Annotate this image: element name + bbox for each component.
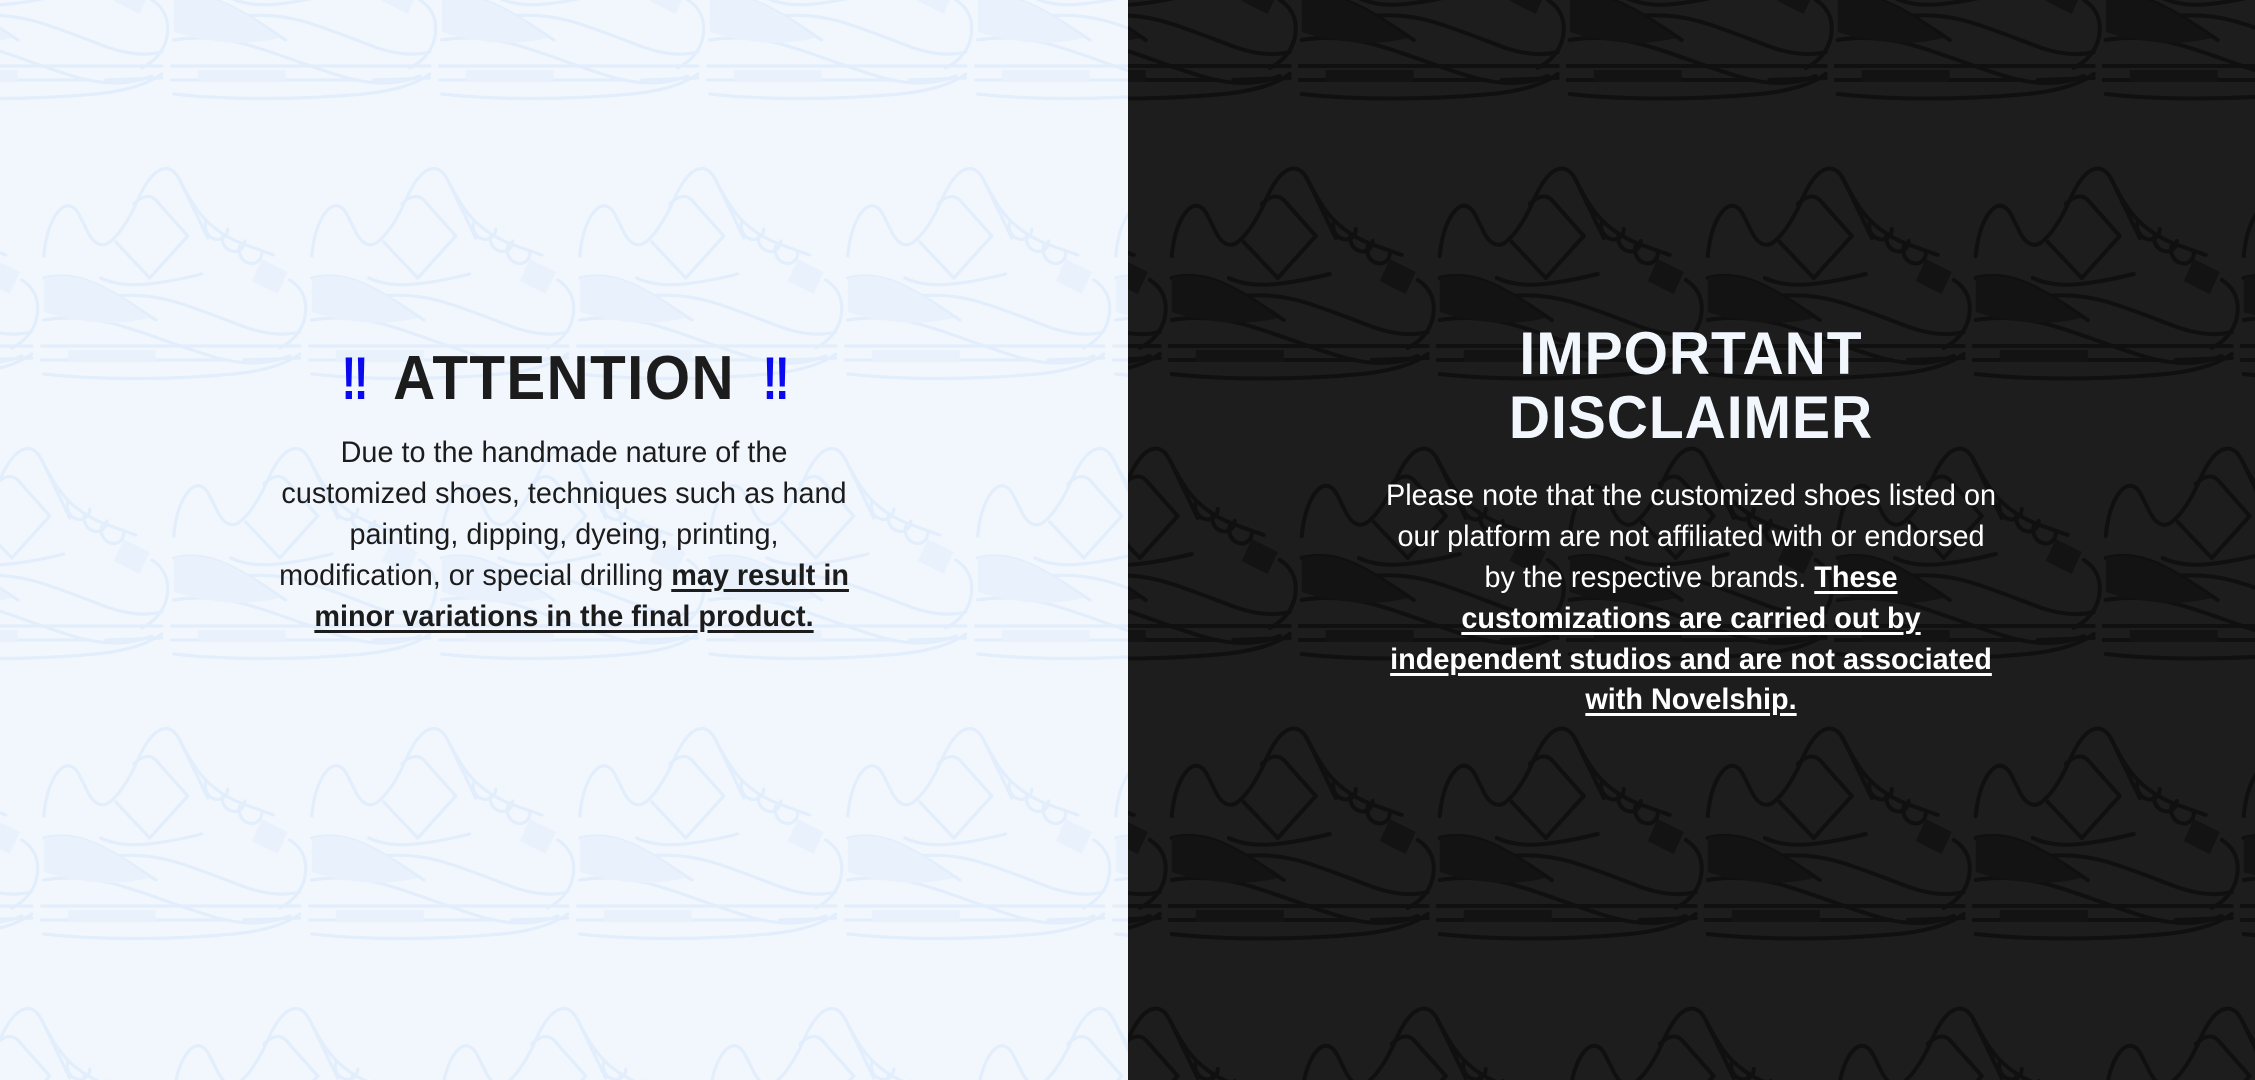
disclaimer-body-plain: Please note that the customized shoes li… [1386, 479, 1996, 594]
disclaimer-heading-line-2: DISCLAIMER [1509, 384, 1873, 451]
disclaimer-content: IMPORTANT DISCLAIMER Please note that th… [1128, 0, 2255, 1080]
attention-body: Due to the handmade nature of the custom… [266, 432, 861, 637]
double-exclamation-icon-right: ‼ [762, 349, 786, 409]
disclaimer-body: Please note that the customized shoes li… [1384, 476, 1998, 721]
double-exclamation-icon-left: ‼ [341, 349, 365, 409]
disclaimer-banner: ‼ ATTENTION ‼ Due to the handmade nature… [0, 0, 2255, 1080]
disclaimer-panel: IMPORTANT DISCLAIMER Please note that th… [1128, 0, 2255, 1080]
disclaimer-heading: IMPORTANT DISCLAIMER [1340, 322, 2043, 450]
attention-heading-text: ATTENTION [393, 348, 735, 410]
attention-content: ‼ ATTENTION ‼ Due to the handmade nature… [0, 0, 1128, 1080]
attention-heading: ‼ ATTENTION ‼ [338, 348, 789, 410]
disclaimer-heading-line-1: IMPORTANT [1520, 320, 1863, 387]
attention-panel: ‼ ATTENTION ‼ Due to the handmade nature… [0, 0, 1128, 1080]
